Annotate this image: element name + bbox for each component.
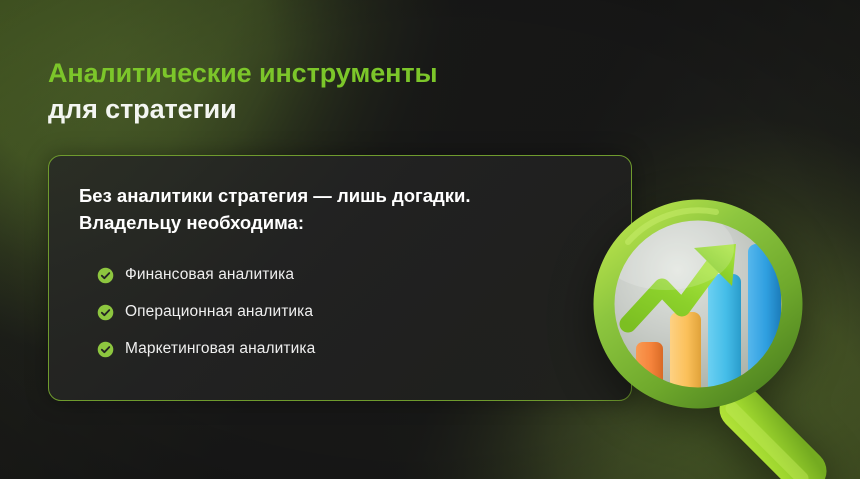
card-lead-line-1: Без аналитики стратегия — лишь догадки. xyxy=(79,183,601,210)
list-item[interactable]: Финансовая аналитика xyxy=(79,257,601,294)
card-lead-text: Без аналитики стратегия — лишь догадки. … xyxy=(79,183,601,237)
bar-amber xyxy=(670,312,701,404)
check-circle-icon xyxy=(97,341,114,358)
page-title-line-1: Аналитические инструменты xyxy=(48,56,608,92)
page-title: Аналитические инструменты для стратегии xyxy=(48,56,608,128)
magnifier-rim xyxy=(604,210,792,398)
magnifier-handle xyxy=(711,378,835,479)
bar-orange xyxy=(636,342,663,404)
check-circle-icon xyxy=(97,304,114,321)
bar-blue xyxy=(748,244,781,404)
page-title-line-2: для стратегии xyxy=(48,92,608,128)
list-item[interactable]: Маркетинговая аналитика xyxy=(79,331,601,368)
check-circle-icon xyxy=(97,267,114,284)
card-lead-line-2: Владельцу необходима: xyxy=(79,210,601,237)
bar-cyan xyxy=(708,274,741,404)
magnifier-lens xyxy=(613,219,783,389)
slide-canvas: Аналитические инструменты для стратегии … xyxy=(0,0,860,479)
trend-arrow xyxy=(628,244,736,324)
analytics-list: Финансовая аналитика Операционная аналит… xyxy=(79,257,601,368)
list-item[interactable]: Операционная аналитика xyxy=(79,294,601,331)
analytics-card: Без аналитики стратегия — лишь догадки. … xyxy=(48,155,632,401)
list-item-label: Операционная аналитика xyxy=(125,304,313,320)
magnifier-rim-highlight xyxy=(628,210,716,242)
list-item-label: Маркетинговая аналитика xyxy=(125,341,315,357)
list-item-label: Финансовая аналитика xyxy=(125,267,294,283)
